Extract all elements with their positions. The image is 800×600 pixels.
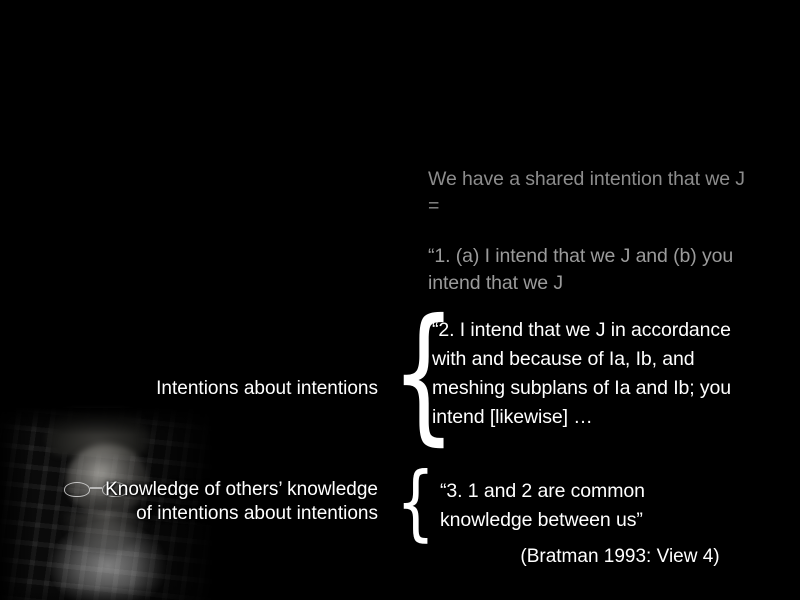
gloss-knowledge-line-2: of intentions about intentions [18, 502, 378, 526]
citation-text: (Bratman 1993: View 4) [470, 545, 770, 569]
gloss-knowledge-of-others: Knowledge of others’ knowledge of intent… [18, 478, 378, 526]
premise-text: We have a shared intention that we J = [428, 166, 748, 220]
clause-three-text: “3. 1 and 2 are common knowledge between… [440, 477, 740, 535]
clause-one-text: “1. (a) I intend that we J and (b) you i… [428, 243, 758, 297]
clause-two-text: “2. I intend that we J in accordance wit… [432, 316, 750, 432]
gloss-knowledge-line-1: Knowledge of others’ knowledge [18, 478, 378, 502]
slide-canvas: We have a shared intention that we J = “… [0, 0, 800, 600]
gloss-intentions-about-intentions: Intentions about intentions [78, 377, 378, 401]
curly-brace-upper-icon: { [391, 300, 457, 448]
curly-brace-lower-icon: { [396, 463, 435, 545]
